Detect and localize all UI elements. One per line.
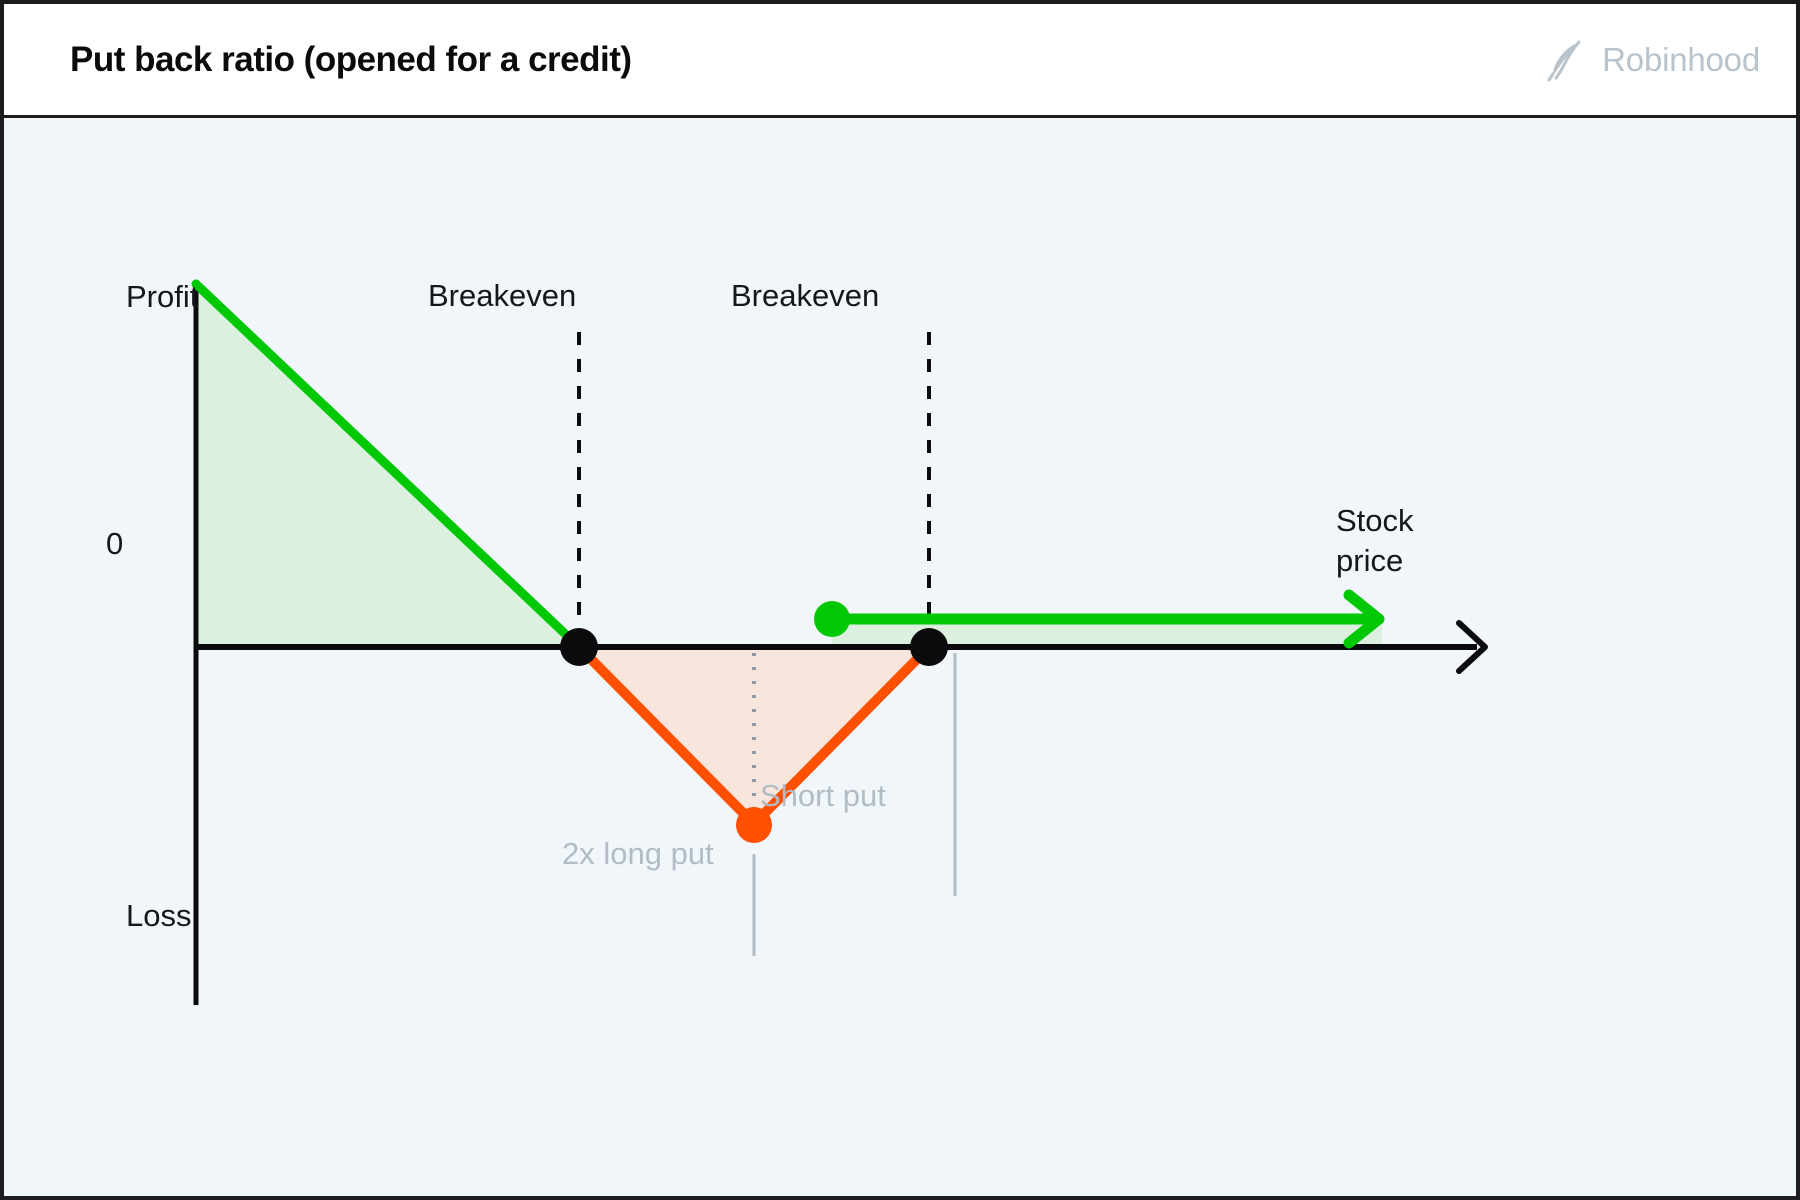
axis-tick-zero: 0: [106, 526, 123, 562]
payoff-diagram-svg: [4, 118, 1796, 1196]
breakeven-dot-1: [560, 628, 598, 666]
axis-label-profit: Profit: [126, 279, 198, 315]
chart-header: Put back ratio (opened for a credit) Rob…: [4, 4, 1796, 118]
annotation-long-put: 2x long put: [562, 836, 714, 872]
annotation-breakeven-2: Breakeven: [731, 278, 879, 314]
annotation-breakeven-1: Breakeven: [428, 278, 576, 314]
feather-icon: [1546, 38, 1586, 82]
chart-card: Put back ratio (opened for a credit) Rob…: [0, 0, 1800, 1200]
annotation-short-put: Short put: [760, 778, 886, 814]
breakeven-dot-2: [910, 628, 948, 666]
payoff-chart: Profit 0 Loss Breakeven Breakeven Stock …: [4, 118, 1796, 1196]
brand-lockup: Robinhood: [1546, 38, 1760, 82]
axis-label-stock-price: Stock price: [1336, 501, 1486, 580]
axis-label-loss: Loss: [126, 898, 191, 934]
short-put-strike-dot: [814, 601, 850, 637]
page-title: Put back ratio (opened for a credit): [70, 40, 632, 80]
brand-wordmark: Robinhood: [1602, 41, 1760, 79]
